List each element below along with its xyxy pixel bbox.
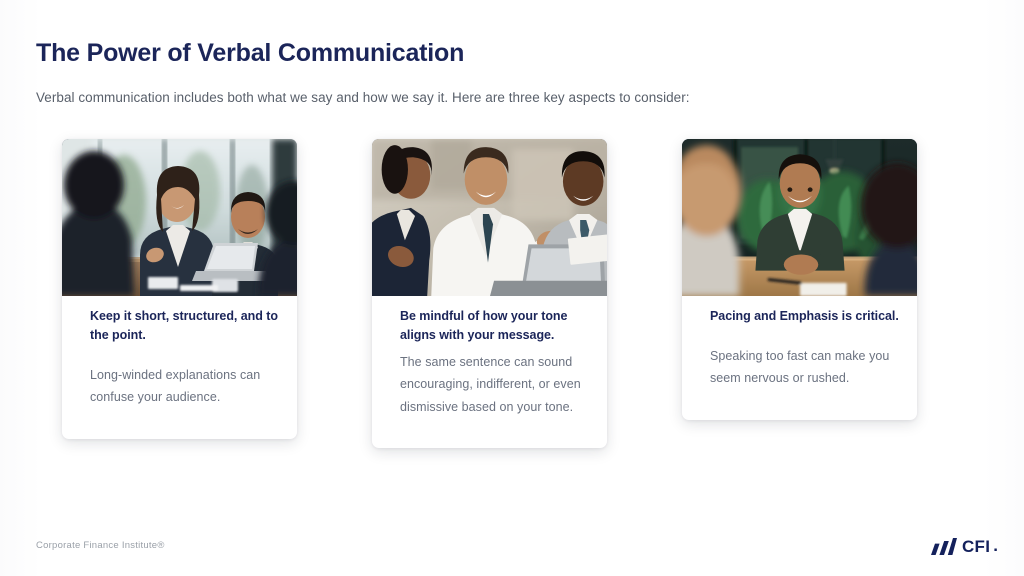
card-heading: Be mindful of how your tone aligns with …	[400, 307, 589, 345]
cfi-logo-dot: .	[993, 536, 998, 556]
cfi-three-bars-mark	[931, 538, 957, 555]
card-image-interview-conversation	[682, 139, 917, 296]
card-heading: Keep it short, structured, and to the po…	[90, 307, 279, 345]
card-image-laptop-collaboration	[372, 139, 607, 296]
card-body: Pacing and Emphasis is critical. Speakin…	[682, 296, 917, 420]
card-be-mindful-of-tone[interactable]: Be mindful of how your tone aligns with …	[372, 139, 607, 448]
card-grid: Keep it short, structured, and to the po…	[62, 139, 962, 448]
footer-brand-text: Corporate Finance Institute®	[36, 540, 165, 551]
card-text: Speaking too fast can make you seem nerv…	[710, 345, 899, 390]
card-text: Long-winded explanations can confuse you…	[90, 364, 279, 409]
card-pacing-and-emphasis[interactable]: Pacing and Emphasis is critical. Speakin…	[682, 139, 917, 420]
card-text: The same sentence can sound encouraging,…	[400, 351, 589, 418]
card-body: Be mindful of how your tone aligns with …	[372, 296, 607, 448]
page-subtitle: Verbal communication includes both what …	[36, 89, 690, 108]
card-body: Keep it short, structured, and to the po…	[62, 296, 297, 439]
cfi-logo: CFI .	[931, 536, 998, 556]
page-title: The Power of Verbal Communication	[36, 38, 464, 68]
slide-canvas: The Power of Verbal Communication Verbal…	[0, 0, 1024, 576]
cfi-logo-wordmark: CFI	[962, 538, 990, 555]
card-image-meeting-presentation	[62, 139, 297, 296]
card-heading: Pacing and Emphasis is critical.	[710, 307, 899, 326]
card-keep-it-short[interactable]: Keep it short, structured, and to the po…	[62, 139, 297, 439]
